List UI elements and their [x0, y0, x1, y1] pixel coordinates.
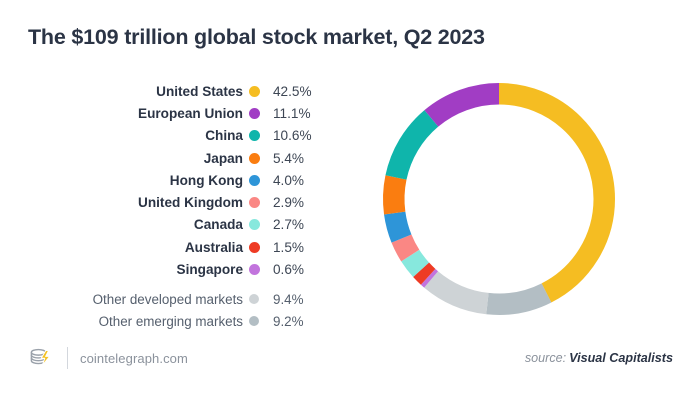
source-label: source:: [525, 351, 566, 365]
legend-row[interactable]: Other developed markets9.4%: [0, 288, 340, 310]
legend-row[interactable]: Other emerging markets9.2%: [0, 310, 340, 332]
donut-slice[interactable]: [381, 81, 618, 318]
brand-footer: cointelegraph.com: [27, 344, 188, 372]
legend-item-label: Canada: [0, 217, 243, 232]
source-name: Visual Capitalists: [569, 351, 673, 365]
legend-color-swatch: [249, 153, 260, 164]
donut-slice[interactable]: [380, 80, 618, 318]
donut-chart-svg: [380, 80, 618, 318]
legend-item-label: China: [0, 128, 243, 143]
legend-item-value: 9.4%: [265, 292, 340, 307]
page-title: The $109 trillion global stock market, Q…: [28, 25, 485, 50]
legend-row[interactable]: Australia1.5%: [0, 236, 340, 258]
legend-item-value: 4.0%: [265, 173, 340, 188]
legend-item-value: 5.4%: [265, 151, 340, 166]
chart-legend: United States42.5%European Union11.1%Chi…: [0, 80, 340, 281]
legend-item-label: Japan: [0, 151, 243, 166]
legend-row[interactable]: European Union11.1%: [0, 102, 340, 124]
legend-color-swatch: [249, 130, 260, 141]
legend-item-value: 42.5%: [265, 84, 340, 99]
legend-swatch-cell: [243, 264, 265, 275]
legend-item-label: Other emerging markets: [0, 314, 243, 329]
legend-color-swatch: [249, 175, 260, 186]
legend-color-swatch: [249, 197, 260, 208]
legend-item-value: 11.1%: [265, 106, 340, 121]
legend-row[interactable]: Singapore0.6%: [0, 258, 340, 280]
legend-item-value: 1.5%: [265, 240, 340, 255]
legend-swatch-cell: [243, 197, 265, 208]
legend-row[interactable]: Japan5.4%: [0, 147, 340, 169]
legend-swatch-cell: [243, 130, 265, 141]
legend-row[interactable]: China10.6%: [0, 125, 340, 147]
donut-slice[interactable]: [380, 80, 618, 318]
legend-item-value: 10.6%: [265, 128, 340, 143]
legend-color-swatch: [249, 294, 259, 304]
legend-color-swatch: [249, 242, 260, 253]
chart-legend-other: Other developed markets9.4%Other emergin…: [0, 288, 340, 333]
legend-swatch-cell: [243, 242, 265, 253]
donut-slice[interactable]: [380, 80, 618, 318]
legend-swatch-cell: [243, 108, 265, 119]
legend-row[interactable]: Hong Kong4.0%: [0, 169, 340, 191]
legend-swatch-cell: [243, 175, 265, 186]
donut-chart: [380, 80, 618, 318]
donut-slice[interactable]: [380, 80, 618, 318]
donut-slice[interactable]: [380, 80, 618, 318]
brand-divider: [67, 347, 68, 369]
legend-item-value: 2.9%: [265, 195, 340, 210]
legend-color-swatch: [249, 264, 260, 275]
legend-item-label: United States: [0, 84, 243, 99]
brand-name: cointelegraph.com: [80, 351, 188, 366]
legend-item-value: 2.7%: [265, 217, 340, 232]
legend-row[interactable]: Canada2.7%: [0, 214, 340, 236]
legend-swatch-cell: [243, 219, 265, 230]
legend-item-value: 0.6%: [265, 262, 340, 277]
legend-item-label: European Union: [0, 106, 243, 121]
legend-item-label: Singapore: [0, 262, 243, 277]
legend-color-swatch: [249, 86, 260, 97]
legend-item-label: Australia: [0, 240, 243, 255]
legend-swatch-cell: [243, 153, 265, 164]
donut-slice[interactable]: [380, 80, 618, 318]
source-attribution: source:Visual Capitalists: [525, 351, 673, 365]
legend-item-value: 9.2%: [265, 314, 340, 329]
coin-stack-lightning-icon: [27, 344, 55, 372]
legend-swatch-cell: [243, 86, 265, 97]
donut-slice[interactable]: [380, 80, 618, 318]
legend-color-swatch: [249, 108, 260, 119]
legend-color-swatch: [249, 219, 260, 230]
legend-item-label: Hong Kong: [0, 173, 243, 188]
donut-slice[interactable]: [380, 80, 618, 318]
legend-swatch-cell: [243, 294, 265, 304]
legend-swatch-cell: [243, 316, 265, 326]
legend-row[interactable]: United States42.5%: [0, 80, 340, 102]
legend-row[interactable]: United Kingdom2.9%: [0, 191, 340, 213]
legend-item-label: Other developed markets: [0, 292, 243, 307]
legend-item-label: United Kingdom: [0, 195, 243, 210]
legend-color-swatch: [249, 316, 259, 326]
